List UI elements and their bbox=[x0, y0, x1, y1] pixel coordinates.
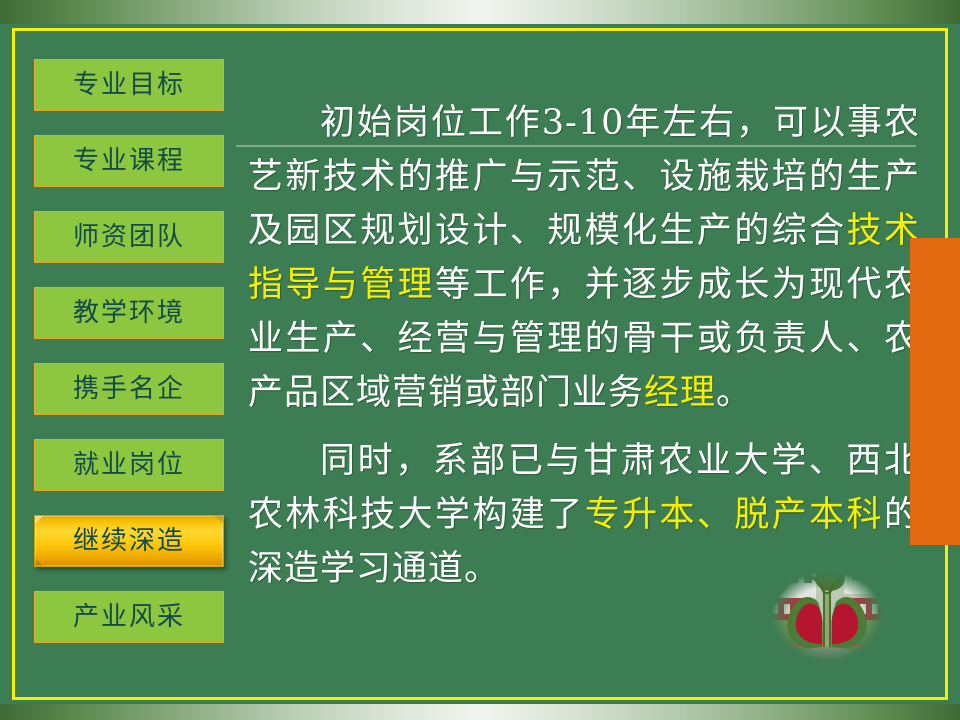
text-run: 初始岗位工作3-10年左右，可以事农艺新技术的推广与示范、设施栽培的生产及园区规… bbox=[248, 103, 920, 251]
sidebar-item-label: 就业岗位 bbox=[73, 452, 185, 478]
content-body: 初始岗位工作3-10年左右，可以事农艺新技术的推广与示范、设施栽培的生产及园区规… bbox=[248, 96, 920, 596]
sidebar-item-3[interactable]: 教学环境 bbox=[34, 287, 224, 339]
accent-bar bbox=[910, 238, 960, 545]
sidebar-item-label: 专业课程 bbox=[73, 148, 185, 174]
sidebar-item-label: 继续深造 bbox=[73, 528, 185, 554]
highlighted-text-run: 经理 bbox=[644, 373, 716, 413]
highlighted-text-run: 专升本、脱产本科 bbox=[585, 495, 884, 535]
sidebar-item-label: 产业风采 bbox=[73, 604, 185, 630]
butterfly-topiary-photo bbox=[760, 562, 894, 670]
sidebar-item-label: 专业目标 bbox=[73, 72, 185, 98]
sidebar-item-5[interactable]: 就业岗位 bbox=[34, 439, 224, 491]
sidebar-item-6[interactable]: 继续深造 bbox=[34, 515, 224, 567]
paragraph-0: 初始岗位工作3-10年左右，可以事农艺新技术的推广与示范、设施栽培的生产及园区规… bbox=[248, 96, 920, 420]
slide-canvas: 专业目标专业课程师资团队教学环境携手名企就业岗位继续深造产业风采 初始岗位工作3… bbox=[0, 0, 960, 720]
sidebar-item-label: 教学环境 bbox=[73, 300, 185, 326]
sidebar-item-label: 携手名企 bbox=[73, 376, 185, 402]
text-run: 。 bbox=[716, 373, 752, 413]
bottom-gradient-band bbox=[0, 704, 960, 720]
sidebar-item-label: 师资团队 bbox=[73, 224, 185, 250]
sidebar-item-0[interactable]: 专业目标 bbox=[34, 59, 224, 111]
sidebar-nav: 专业目标专业课程师资团队教学环境携手名企就业岗位继续深造产业风采 bbox=[34, 59, 224, 667]
top-gradient-band bbox=[0, 0, 960, 24]
sidebar-item-1[interactable]: 专业课程 bbox=[34, 135, 224, 187]
sidebar-item-7[interactable]: 产业风采 bbox=[34, 591, 224, 643]
sidebar-item-4[interactable]: 携手名企 bbox=[34, 363, 224, 415]
sidebar-item-2[interactable]: 师资团队 bbox=[34, 211, 224, 263]
